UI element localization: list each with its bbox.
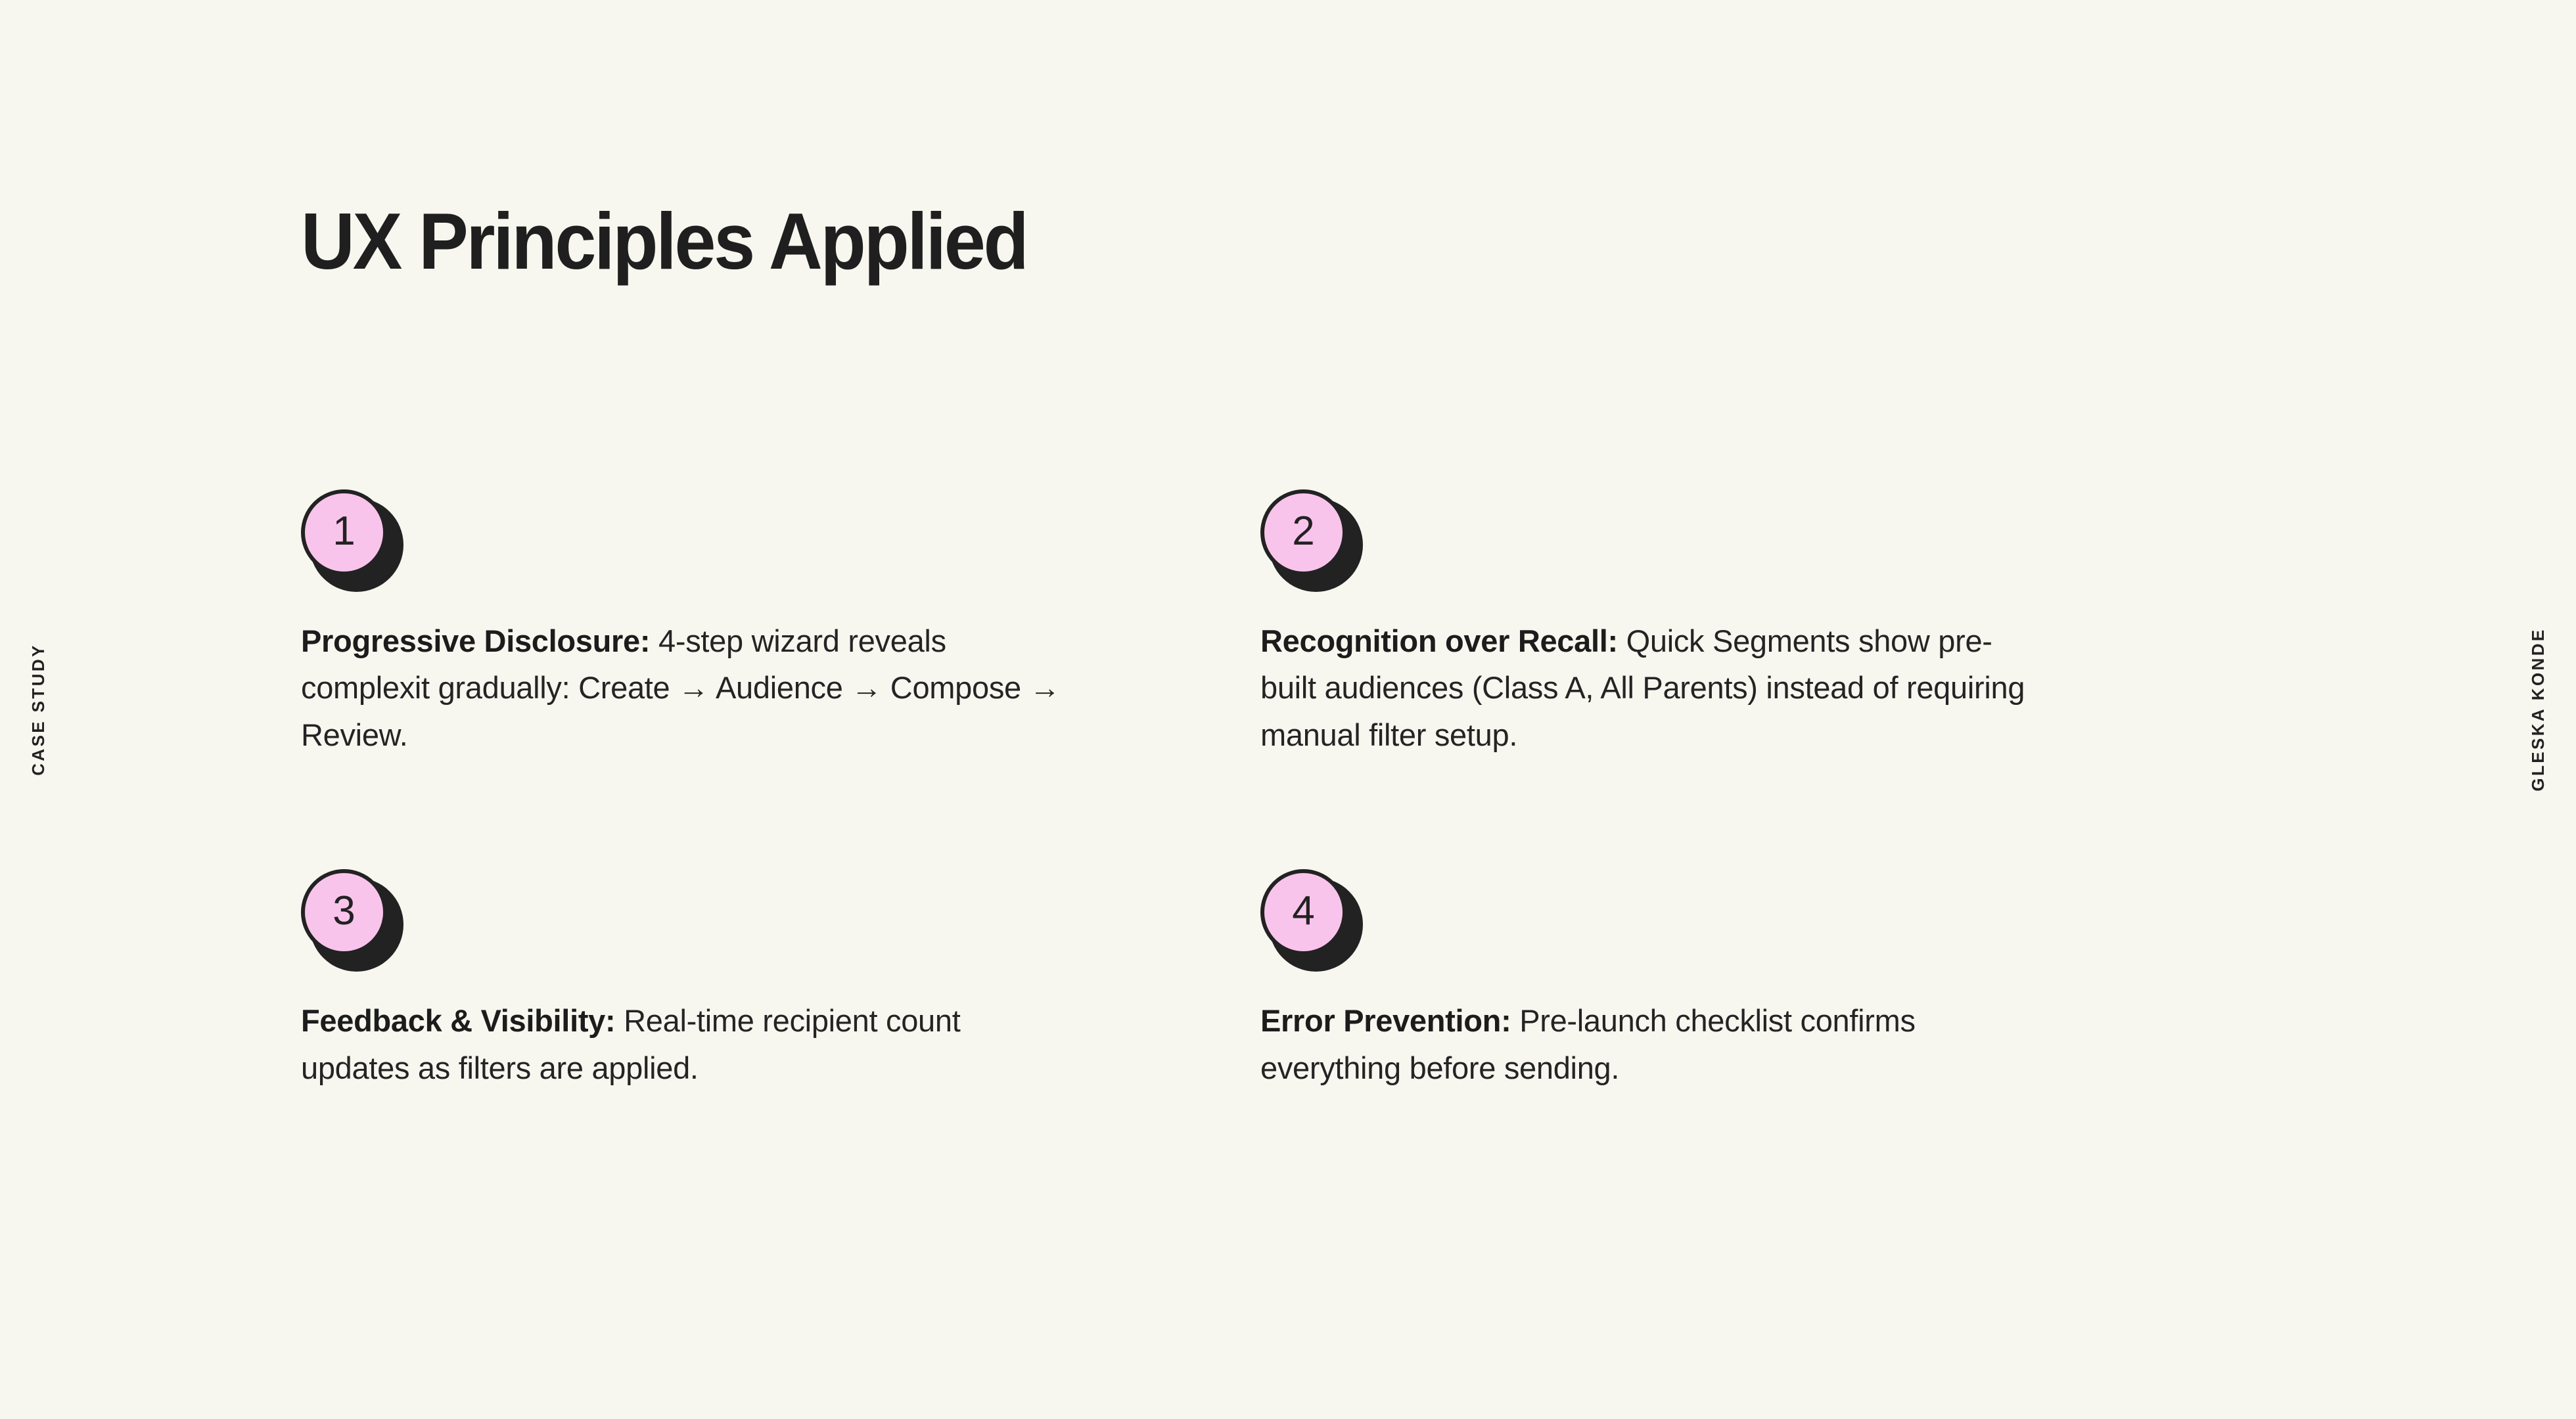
principle-badge: 3: [301, 869, 398, 966]
page-title: UX Principles Applied: [301, 200, 1026, 283]
principle-item: 4 Error Prevention: Pre-launch checklist…: [1260, 869, 2036, 1122]
principle-item: 3 Feedback & Visibility: Real-time recip…: [301, 869, 1076, 1122]
badge-number: 4: [1292, 891, 1314, 932]
side-rail-case-study: CASE STUDY: [30, 643, 47, 776]
principles-grid: 1 Progressive Disclosure: 4-step wizard …: [301, 489, 2141, 1122]
badge-number: 1: [333, 511, 355, 552]
principle-badge: 1: [301, 489, 398, 587]
slide-canvas: CASE STUDY GLESKA KONDE UX Principles Ap…: [0, 0, 2576, 1419]
badge-circle: 2: [1260, 489, 1346, 575]
principle-lead: Feedback & Visibility:: [301, 1003, 615, 1038]
badge-number: 2: [1292, 511, 1314, 552]
principle-text: Progressive Disclosure: 4-step wizard re…: [301, 618, 1076, 758]
principle-text: Feedback & Visibility: Real-time recipie…: [301, 997, 1076, 1091]
badge-circle: 3: [301, 869, 387, 955]
badge-circle: 1: [301, 489, 387, 575]
badge-circle: 4: [1260, 869, 1346, 955]
principle-lead: Error Prevention:: [1260, 1003, 1511, 1038]
principle-lead: Progressive Disclosure:: [301, 623, 650, 658]
principle-text: Recognition over Recall: Quick Segments …: [1260, 618, 2036, 758]
principle-badge: 4: [1260, 869, 1358, 966]
principle-badge: 2: [1260, 489, 1358, 587]
principle-text: Error Prevention: Pre-launch checklist c…: [1260, 997, 2036, 1091]
principle-lead: Recognition over Recall:: [1260, 623, 1618, 658]
badge-number: 3: [333, 891, 355, 932]
principle-item: 2 Recognition over Recall: Quick Segment…: [1260, 489, 2036, 789]
principle-item: 1 Progressive Disclosure: 4-step wizard …: [301, 489, 1076, 789]
side-rail-brand: GLESKA KONDE: [2529, 627, 2546, 791]
